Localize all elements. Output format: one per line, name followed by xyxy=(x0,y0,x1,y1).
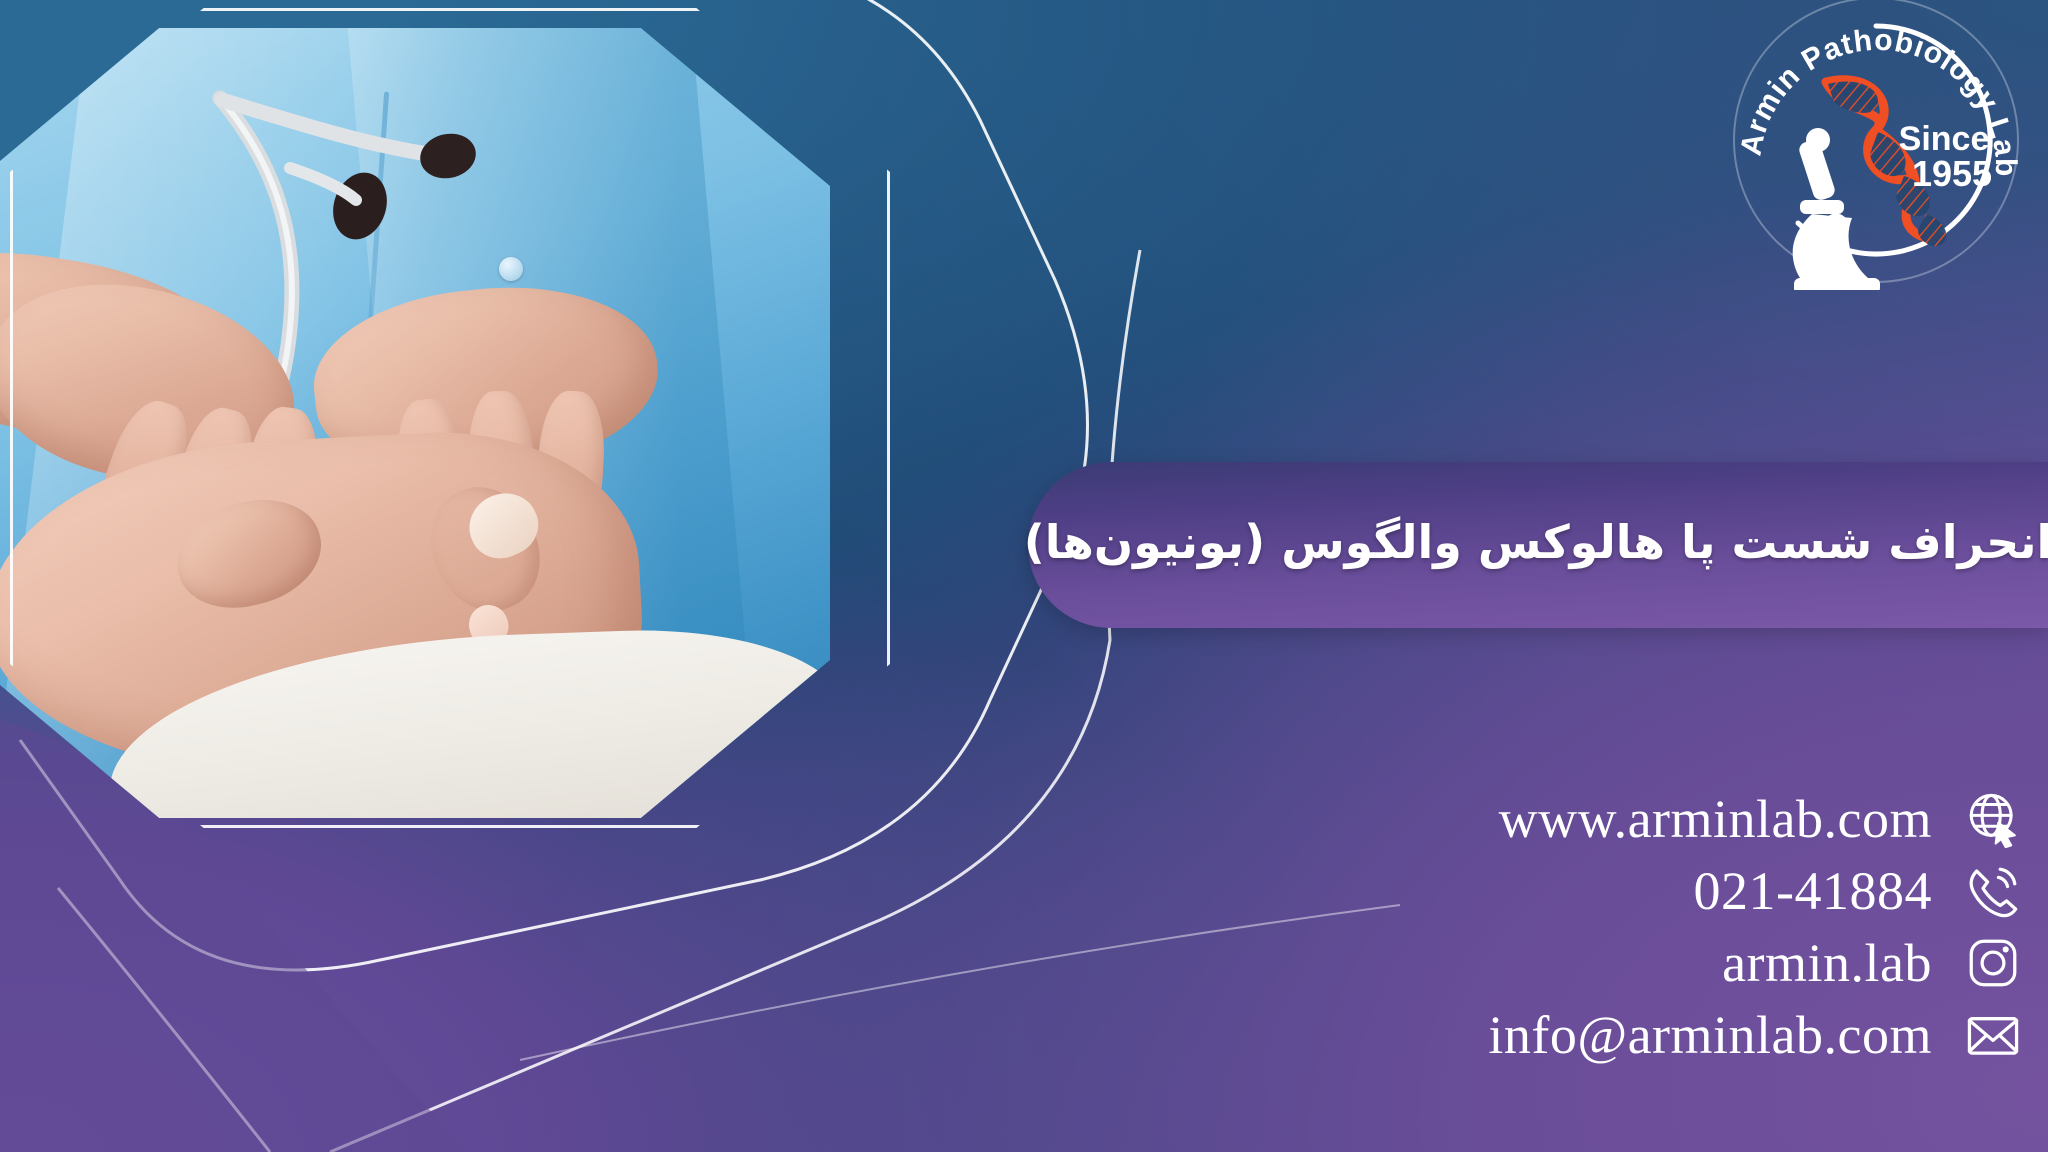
instagram-icon[interactable] xyxy=(1962,932,2024,994)
phone-call-icon[interactable] xyxy=(1962,860,2024,922)
deco-curve-diagonal xyxy=(520,905,1400,1060)
title-banner: انحراف شست پا هالوکس والگوس (بونیون‌ها) xyxy=(1028,462,2048,628)
website-text: www.arminlab.com xyxy=(1499,791,1932,848)
brand-logo[interactable]: Armin Pathobiology Lab Since 1955 xyxy=(1726,0,2026,290)
logo-since-year: 1955 xyxy=(1912,153,1992,194)
contact-row-email[interactable]: info@arminlab.com xyxy=(1324,1004,2024,1066)
instagram-text: armin.lab xyxy=(1722,935,1932,992)
hero-photo xyxy=(0,28,830,818)
page-title: انحراف شست پا هالوکس والگوس (بونیون‌ها) xyxy=(1000,517,2048,574)
email-text: info@arminlab.com xyxy=(1488,1007,1932,1064)
contact-row-website[interactable]: www.arminlab.com xyxy=(1324,788,2024,850)
contact-row-instagram[interactable]: armin.lab xyxy=(1324,932,2024,994)
phone-text: 021-41884 xyxy=(1694,863,1932,920)
envelope-icon[interactable] xyxy=(1962,1004,2024,1066)
globe-cursor-icon[interactable] xyxy=(1962,788,2024,850)
poster-canvas: Armin Pathobiology Lab Since 1955 انحراف… xyxy=(0,0,2048,1152)
contact-block: www.arminlab.com 021-41884 xyxy=(1324,788,2024,1066)
deco-curve-bottom-left xyxy=(58,888,270,1152)
contact-row-phone[interactable]: 021-41884 xyxy=(1324,860,2024,922)
